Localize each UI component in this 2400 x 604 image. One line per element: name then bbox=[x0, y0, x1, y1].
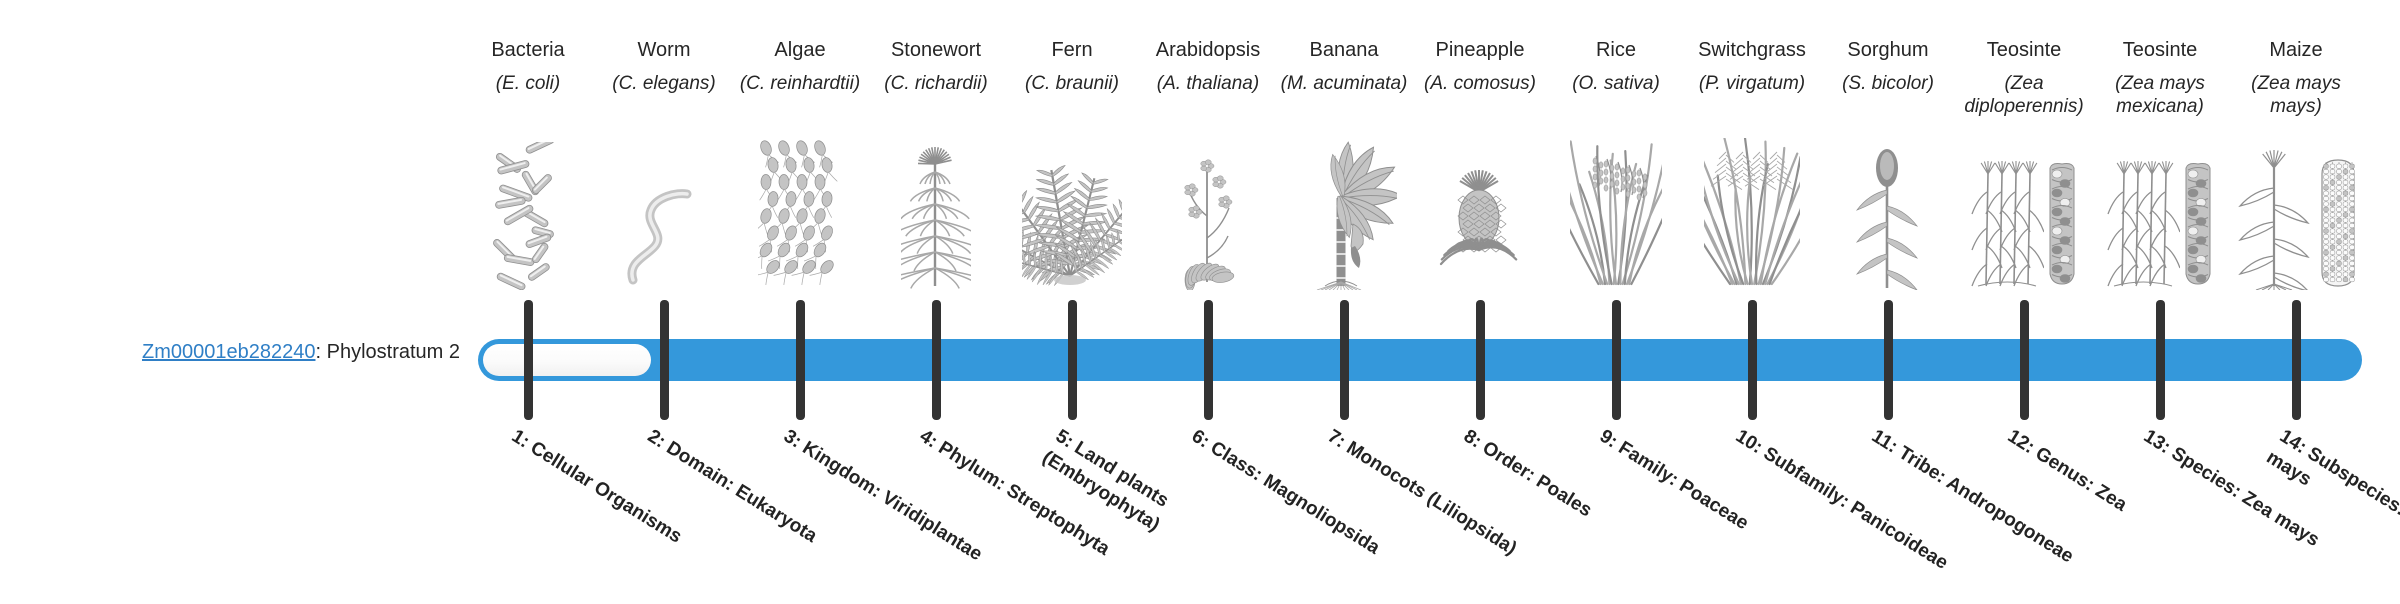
species-common-name: Rice bbox=[1549, 38, 1683, 62]
rank-label-12: 12: Genus: Zea bbox=[2003, 424, 2237, 583]
species-latin-name: (M. acuminata) bbox=[1277, 72, 1411, 95]
species-column-maize-14: Maize(Zea mays mays) bbox=[2229, 38, 2363, 118]
species-column-teosinte-13: Teosinte(Zea mays mexicana) bbox=[2093, 38, 2227, 118]
species-common-name: Switchgrass bbox=[1685, 38, 1819, 62]
rank-label-2: 2: Domain: Eukaryota bbox=[643, 424, 877, 583]
species-latin-name: (P. virgatum) bbox=[1685, 72, 1819, 95]
species-column-worm-2: Worm(C. elegans) bbox=[597, 38, 731, 95]
rank-label-7: 7: Monocots (Liliopsida) bbox=[1323, 424, 1557, 583]
species-common-name: Sorghum bbox=[1821, 38, 1955, 62]
arabidopsis-icon bbox=[1141, 160, 1275, 290]
species-latin-name: (Zea mays mays) bbox=[2229, 72, 2363, 118]
species-common-name: Arabidopsis bbox=[1141, 38, 1275, 62]
maize-icon bbox=[2229, 160, 2363, 290]
fern-icon bbox=[1005, 160, 1139, 290]
pineapple-icon bbox=[1413, 160, 1547, 290]
species-column-stonewort-4: Stonewort(C. richardii) bbox=[869, 38, 1003, 95]
gene-phylostratum-label: Zm00001eb282240: Phylostratum 2 bbox=[40, 340, 460, 364]
species-common-name: Stonewort bbox=[869, 38, 1003, 62]
species-column-sorghum-11: Sorghum(S. bicolor) bbox=[1821, 38, 1955, 95]
sorghum-icon bbox=[1821, 160, 1955, 290]
rice-icon bbox=[1549, 160, 1683, 290]
phylostratum-tick-6 bbox=[1204, 300, 1213, 420]
teosinte-mexicana-icon bbox=[2093, 160, 2227, 290]
species-common-name: Pineapple bbox=[1413, 38, 1547, 62]
bacteria-icon bbox=[461, 160, 595, 290]
species-common-name: Worm bbox=[597, 38, 731, 62]
stonewort-icon bbox=[869, 160, 1003, 290]
species-latin-name: (A. comosus) bbox=[1413, 72, 1547, 95]
phylostratum-value: Phylostratum 2 bbox=[327, 341, 460, 363]
phylostratum-tick-11 bbox=[1884, 300, 1893, 420]
teosinte-diplo-icon bbox=[1957, 160, 2091, 290]
phylostratum-figure: Zm00001eb282240: Phylostratum 2 Bacteria… bbox=[0, 0, 2400, 580]
species-common-name: Fern bbox=[1005, 38, 1139, 62]
worm-icon bbox=[597, 160, 731, 290]
species-column-algae-3: Algae(C. reinhardtii) bbox=[733, 38, 867, 95]
phylostratum-tick-10 bbox=[1748, 300, 1757, 420]
species-column-fern-5: Fern(C. braunii) bbox=[1005, 38, 1139, 95]
phylostratum-tick-3 bbox=[796, 300, 805, 420]
phylostratum-tick-12 bbox=[2020, 300, 2029, 420]
phylostratum-tick-13 bbox=[2156, 300, 2165, 420]
species-column-arabidopsis-6: Arabidopsis(A. thaliana) bbox=[1141, 38, 1275, 95]
phylostratum-tick-9 bbox=[1612, 300, 1621, 420]
species-common-name: Algae bbox=[733, 38, 867, 62]
species-latin-name: (Zea diploperennis) bbox=[1957, 72, 2091, 118]
species-latin-name: (C. elegans) bbox=[597, 72, 731, 95]
organism-illustration-row bbox=[478, 160, 2362, 290]
species-common-name: Teosinte bbox=[2093, 38, 2227, 62]
gene-id-link[interactable]: Zm00001eb282240 bbox=[142, 341, 315, 363]
species-common-name: Banana bbox=[1277, 38, 1411, 62]
species-latin-name: (C. richardii) bbox=[869, 72, 1003, 95]
phylostratum-tick-8 bbox=[1476, 300, 1485, 420]
phylostratum-tick-7 bbox=[1340, 300, 1349, 420]
banana-icon bbox=[1277, 160, 1411, 290]
species-common-name: Maize bbox=[2229, 38, 2363, 62]
rank-label-5: 5: Land plants (Embryophyta) bbox=[1038, 424, 1285, 604]
species-column-rice-9: Rice(O. sativa) bbox=[1549, 38, 1683, 95]
species-latin-name: (E. coli) bbox=[461, 72, 595, 95]
rank-label-1: 1: Cellular Organisms bbox=[507, 424, 741, 583]
phylostratum-tick-2 bbox=[660, 300, 669, 420]
species-latin-name: (Zea mays mexicana) bbox=[2093, 72, 2227, 118]
species-latin-name: (C. reinhardtii) bbox=[733, 72, 867, 95]
rank-label-9: 9: Family: Poaceae bbox=[1595, 424, 1829, 583]
phylostratum-tick-14 bbox=[2292, 300, 2301, 420]
species-latin-name: (C. braunii) bbox=[1005, 72, 1139, 95]
switchgrass-icon bbox=[1685, 160, 1819, 290]
species-column-pineapple-8: Pineapple(A. comosus) bbox=[1413, 38, 1547, 95]
algae-icon bbox=[733, 160, 867, 290]
species-latin-name: (S. bicolor) bbox=[1821, 72, 1955, 95]
phylostratum-tick-5 bbox=[1068, 300, 1077, 420]
species-column-bacteria-1: Bacteria(E. coli) bbox=[461, 38, 595, 95]
species-column-switchgrass-10: Switchgrass(P. virgatum) bbox=[1685, 38, 1819, 95]
species-column-banana-7: Banana(M. acuminata) bbox=[1277, 38, 1411, 95]
species-latin-name: (A. thaliana) bbox=[1141, 72, 1275, 95]
phylostratum-tick-4 bbox=[932, 300, 941, 420]
rank-label-3: 3: Kingdom: Viridiplantae bbox=[779, 424, 1013, 583]
rank-label-10: 10: Subfamily: Panicoideae bbox=[1731, 424, 1965, 583]
taxonomic-rank-label-row: 1: Cellular Organisms2: Domain: Eukaryot… bbox=[478, 424, 2362, 580]
phylostratum-tick-row bbox=[478, 300, 2362, 420]
species-latin-name: (O. sativa) bbox=[1549, 72, 1683, 95]
gene-label-separator: : bbox=[315, 341, 326, 363]
rank-label-8: 8: Order: Poales bbox=[1459, 424, 1693, 583]
phylostratum-tick-1 bbox=[524, 300, 533, 420]
species-common-name: Teosinte bbox=[1957, 38, 2091, 62]
species-column-teosinte-12: Teosinte(Zea diploperennis) bbox=[1957, 38, 2091, 118]
species-common-name: Bacteria bbox=[461, 38, 595, 62]
rank-label-11: 11: Tribe: Andropogoneae bbox=[1867, 424, 2101, 583]
